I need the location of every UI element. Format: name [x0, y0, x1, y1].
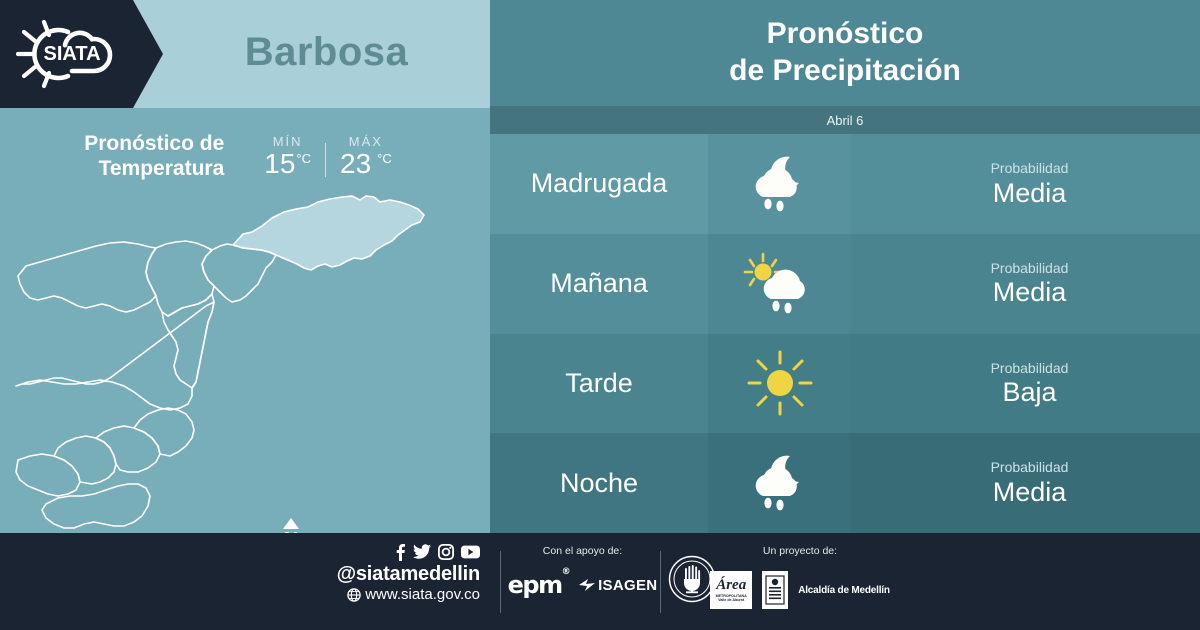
sun-cloud-rain-icon — [741, 252, 819, 316]
precipitation-title: Pronóstico de Precipitación — [729, 16, 961, 89]
isagen-logo: ISAGEN — [579, 577, 657, 594]
temperature-max-value: 23 — [340, 150, 371, 178]
map-region-medellin — [16, 302, 214, 410]
temperature-title-line2: Temperatura — [84, 156, 224, 181]
aburra-valley-map: N — [0, 188, 490, 533]
support-logos: epm® ISAGEN — [505, 571, 660, 599]
sun-icon — [746, 349, 814, 417]
temperature-values: MÍN 15°C MÁX 23°C — [250, 134, 406, 178]
website-text: www.siata.gov.co — [365, 586, 480, 604]
city-name: Barbosa — [163, 0, 490, 108]
forecast-row[interactable]: Noche Probabilidad Media — [490, 433, 1200, 533]
footer-divider-1 — [500, 551, 501, 613]
area-sub-text: METROPOLITANA Valle de Aburrá — [716, 594, 747, 603]
moon-cloud-rain-icon — [743, 452, 817, 514]
precipitation-header: Pronóstico de Precipitación — [490, 0, 1200, 106]
project-label: Un proyecto de: — [700, 545, 900, 557]
temperature-block: Pronóstico de Temperatura MÍN 15°C MÁX — [0, 122, 490, 190]
probability-value: Media — [993, 477, 1067, 507]
temperature-panel: Pronóstico de Temperatura MÍN 15°C MÁX — [0, 108, 490, 533]
temperature-max-label: MÁX — [349, 134, 383, 149]
forecast-period: Noche — [490, 433, 708, 533]
forecast-icon-cell — [708, 234, 851, 334]
epm-logo: epm® — [508, 571, 569, 599]
forecast-icon-cell — [708, 134, 851, 234]
temperature-title: Pronóstico de Temperatura — [84, 131, 224, 181]
left-header: SIATA Barbosa — [0, 0, 490, 108]
area-script-text: Área — [716, 578, 746, 593]
forecast-probability-cell: Probabilidad Media — [851, 134, 1200, 234]
map-region-envigado — [54, 436, 116, 484]
probability-label: Probabilidad — [991, 160, 1069, 178]
instagram-icon[interactable] — [438, 544, 454, 560]
map-region-sabaneta — [96, 426, 160, 472]
website-link[interactable]: www.siata.gov.co — [330, 586, 480, 604]
temperature-min: MÍN 15°C — [250, 134, 325, 178]
temperature-max-value-group: 23°C — [340, 150, 392, 178]
forecast-rows: Madrugada Probabilidad Media Mañana — [490, 134, 1200, 533]
forecast-period: Madrugada — [490, 134, 708, 234]
forecast-row[interactable]: Mañana — [490, 234, 1200, 334]
left-panel: SIATA Barbosa Pronóstico de Temperatura … — [0, 0, 490, 533]
forecast-icon-cell — [708, 433, 851, 533]
probability-label: Probabilidad — [991, 260, 1069, 278]
temperature-min-value: 15 — [264, 150, 295, 178]
precipitation-title-line1: Pronóstico — [729, 16, 961, 53]
map-region-girardota — [202, 244, 276, 302]
temperature-max-unit: °C — [377, 152, 392, 165]
forecast-row[interactable]: Tarde — [490, 334, 1200, 434]
temperature-max: MÁX 23°C — [326, 134, 406, 178]
social-handle[interactable]: @siatamedellin — [330, 563, 480, 586]
forecast-icon-cell — [708, 334, 851, 434]
probability-label: Probabilidad — [991, 360, 1069, 378]
map-region-copacabana — [146, 241, 214, 316]
facebook-icon[interactable] — [394, 543, 406, 561]
project-block: Un proyecto de: Área METROPOLITANA Valle… — [700, 545, 900, 609]
support-block: Con el apoyo de: epm® ISAGEN — [505, 545, 660, 599]
map-region-itagui — [16, 454, 80, 496]
forecast-probability-cell: Probabilidad Media — [851, 234, 1200, 334]
footer-divider-2 — [660, 551, 661, 613]
isagen-mark-icon — [579, 578, 595, 592]
map-region-la-estrella — [134, 408, 194, 456]
forecast-probability-cell: Probabilidad Media — [851, 433, 1200, 533]
social-icons — [330, 543, 480, 561]
forecast-probability-cell: Probabilidad Baja — [851, 334, 1200, 434]
forecast-row[interactable]: Madrugada Probabilidad Media — [490, 134, 1200, 234]
map-region-medellin-north — [162, 294, 214, 388]
temperature-min-value-group: 15°C — [264, 150, 311, 178]
epm-registered-mark: ® — [562, 567, 570, 577]
probability-value: Media — [993, 277, 1067, 307]
globe-icon — [347, 588, 361, 602]
alcaldia-crest-icon — [765, 575, 785, 605]
siata-logo-banner: SIATA — [0, 0, 163, 108]
twitter-icon[interactable] — [413, 544, 431, 560]
map-svg — [0, 188, 490, 533]
map-region-bello — [18, 242, 156, 312]
forecast-period: Mañana — [490, 234, 708, 334]
temperature-title-line1: Pronóstico de — [84, 131, 224, 156]
forecast-period: Tarde — [490, 334, 708, 434]
temperature-min-unit: °C — [296, 152, 311, 165]
siata-logo-text: SIATA — [43, 43, 100, 65]
map-region-caldas — [42, 484, 150, 528]
youtube-icon[interactable] — [461, 545, 480, 559]
alcaldia-shield-icon — [762, 571, 788, 609]
north-arrow-icon — [283, 518, 299, 529]
forecast-date: Abril 6 — [490, 106, 1200, 134]
precipitation-title-line2: de Precipitación — [729, 53, 961, 90]
alcaldia-label: Alcaldía de Medellín — [798, 585, 890, 596]
probability-value: Baja — [1002, 377, 1056, 407]
moon-cloud-rain-icon — [743, 153, 817, 215]
footer: @siatamedellin www.siata.gov.co Con el a… — [0, 533, 1200, 630]
weather-forecast-infographic: SIATA Barbosa Pronóstico de Temperatura … — [0, 0, 1200, 630]
social-block: @siatamedellin www.siata.gov.co — [330, 543, 480, 604]
probability-label: Probabilidad — [991, 459, 1069, 477]
temperature-min-label: MÍN — [273, 134, 303, 149]
sun-cloud-icon: SIATA — [12, 14, 136, 94]
map-region-barbosa — [233, 196, 424, 270]
support-label: Con el apoyo de: — [505, 545, 660, 557]
probability-value: Media — [993, 178, 1067, 208]
precipitation-panel: Pronóstico de Precipitación Abril 6 Madr… — [490, 0, 1200, 533]
project-logos: Área METROPOLITANA Valle de Aburrá — [700, 571, 900, 609]
area-metropolitana-logo: Área METROPOLITANA Valle de Aburrá — [710, 571, 752, 609]
